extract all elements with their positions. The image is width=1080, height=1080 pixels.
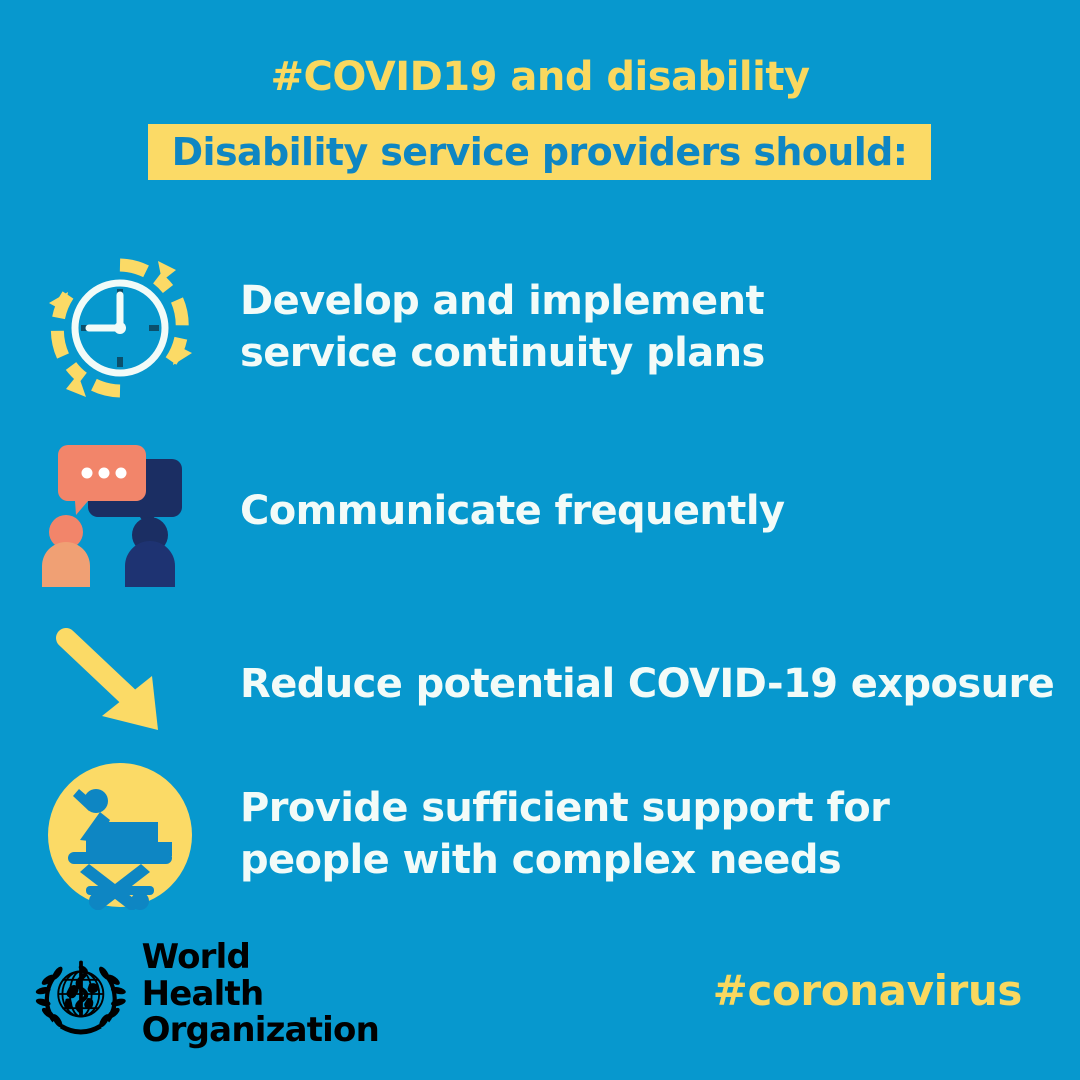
who-wordmark: World Health Organization [142,939,379,1049]
row-icon-slot [0,253,240,403]
clock-rotation-icon [40,253,200,403]
hashtag-coronavirus: #coronavirus [713,966,1022,1015]
list-item-label: Provide sufficient support for people wi… [240,783,889,885]
list-item-label: Develop and implement service continuity… [240,276,765,378]
row-icon-slot [0,437,240,587]
list-item: Provide sufficient support for people wi… [0,752,1080,917]
people-speech-bubbles-icon [40,437,200,587]
subtitle-banner: Disability service providers should: [148,124,931,180]
row-icon-slot [0,760,240,910]
who-logo: World Health Organization [34,944,379,1044]
list-item-label: Reduce potential COVID-19 exposure [240,659,1054,710]
who-emblem-icon [34,944,128,1044]
patient-stretcher-icon [40,760,200,910]
bubble-dot [116,468,127,479]
person-body-navy [125,541,175,587]
person-body-salmon [42,542,90,587]
list-item-label: Communicate frequently [240,486,784,537]
list-item: Develop and implement service continuity… [0,250,1080,405]
subtitle-banner-label: Disability service providers should: [172,130,908,174]
infographic-poster: #COVID19 and disability Disability servi… [0,0,1080,1080]
page-title: #COVID19 and disability [0,54,1080,100]
list-item: Communicate frequently [0,432,1080,592]
bubble-dot [82,468,93,479]
bubble-dot [99,468,110,479]
row-icon-slot [0,620,240,750]
diagonal-down-arrow-icon [40,620,200,750]
list-item: Reduce potential COVID-19 exposure [0,612,1080,757]
